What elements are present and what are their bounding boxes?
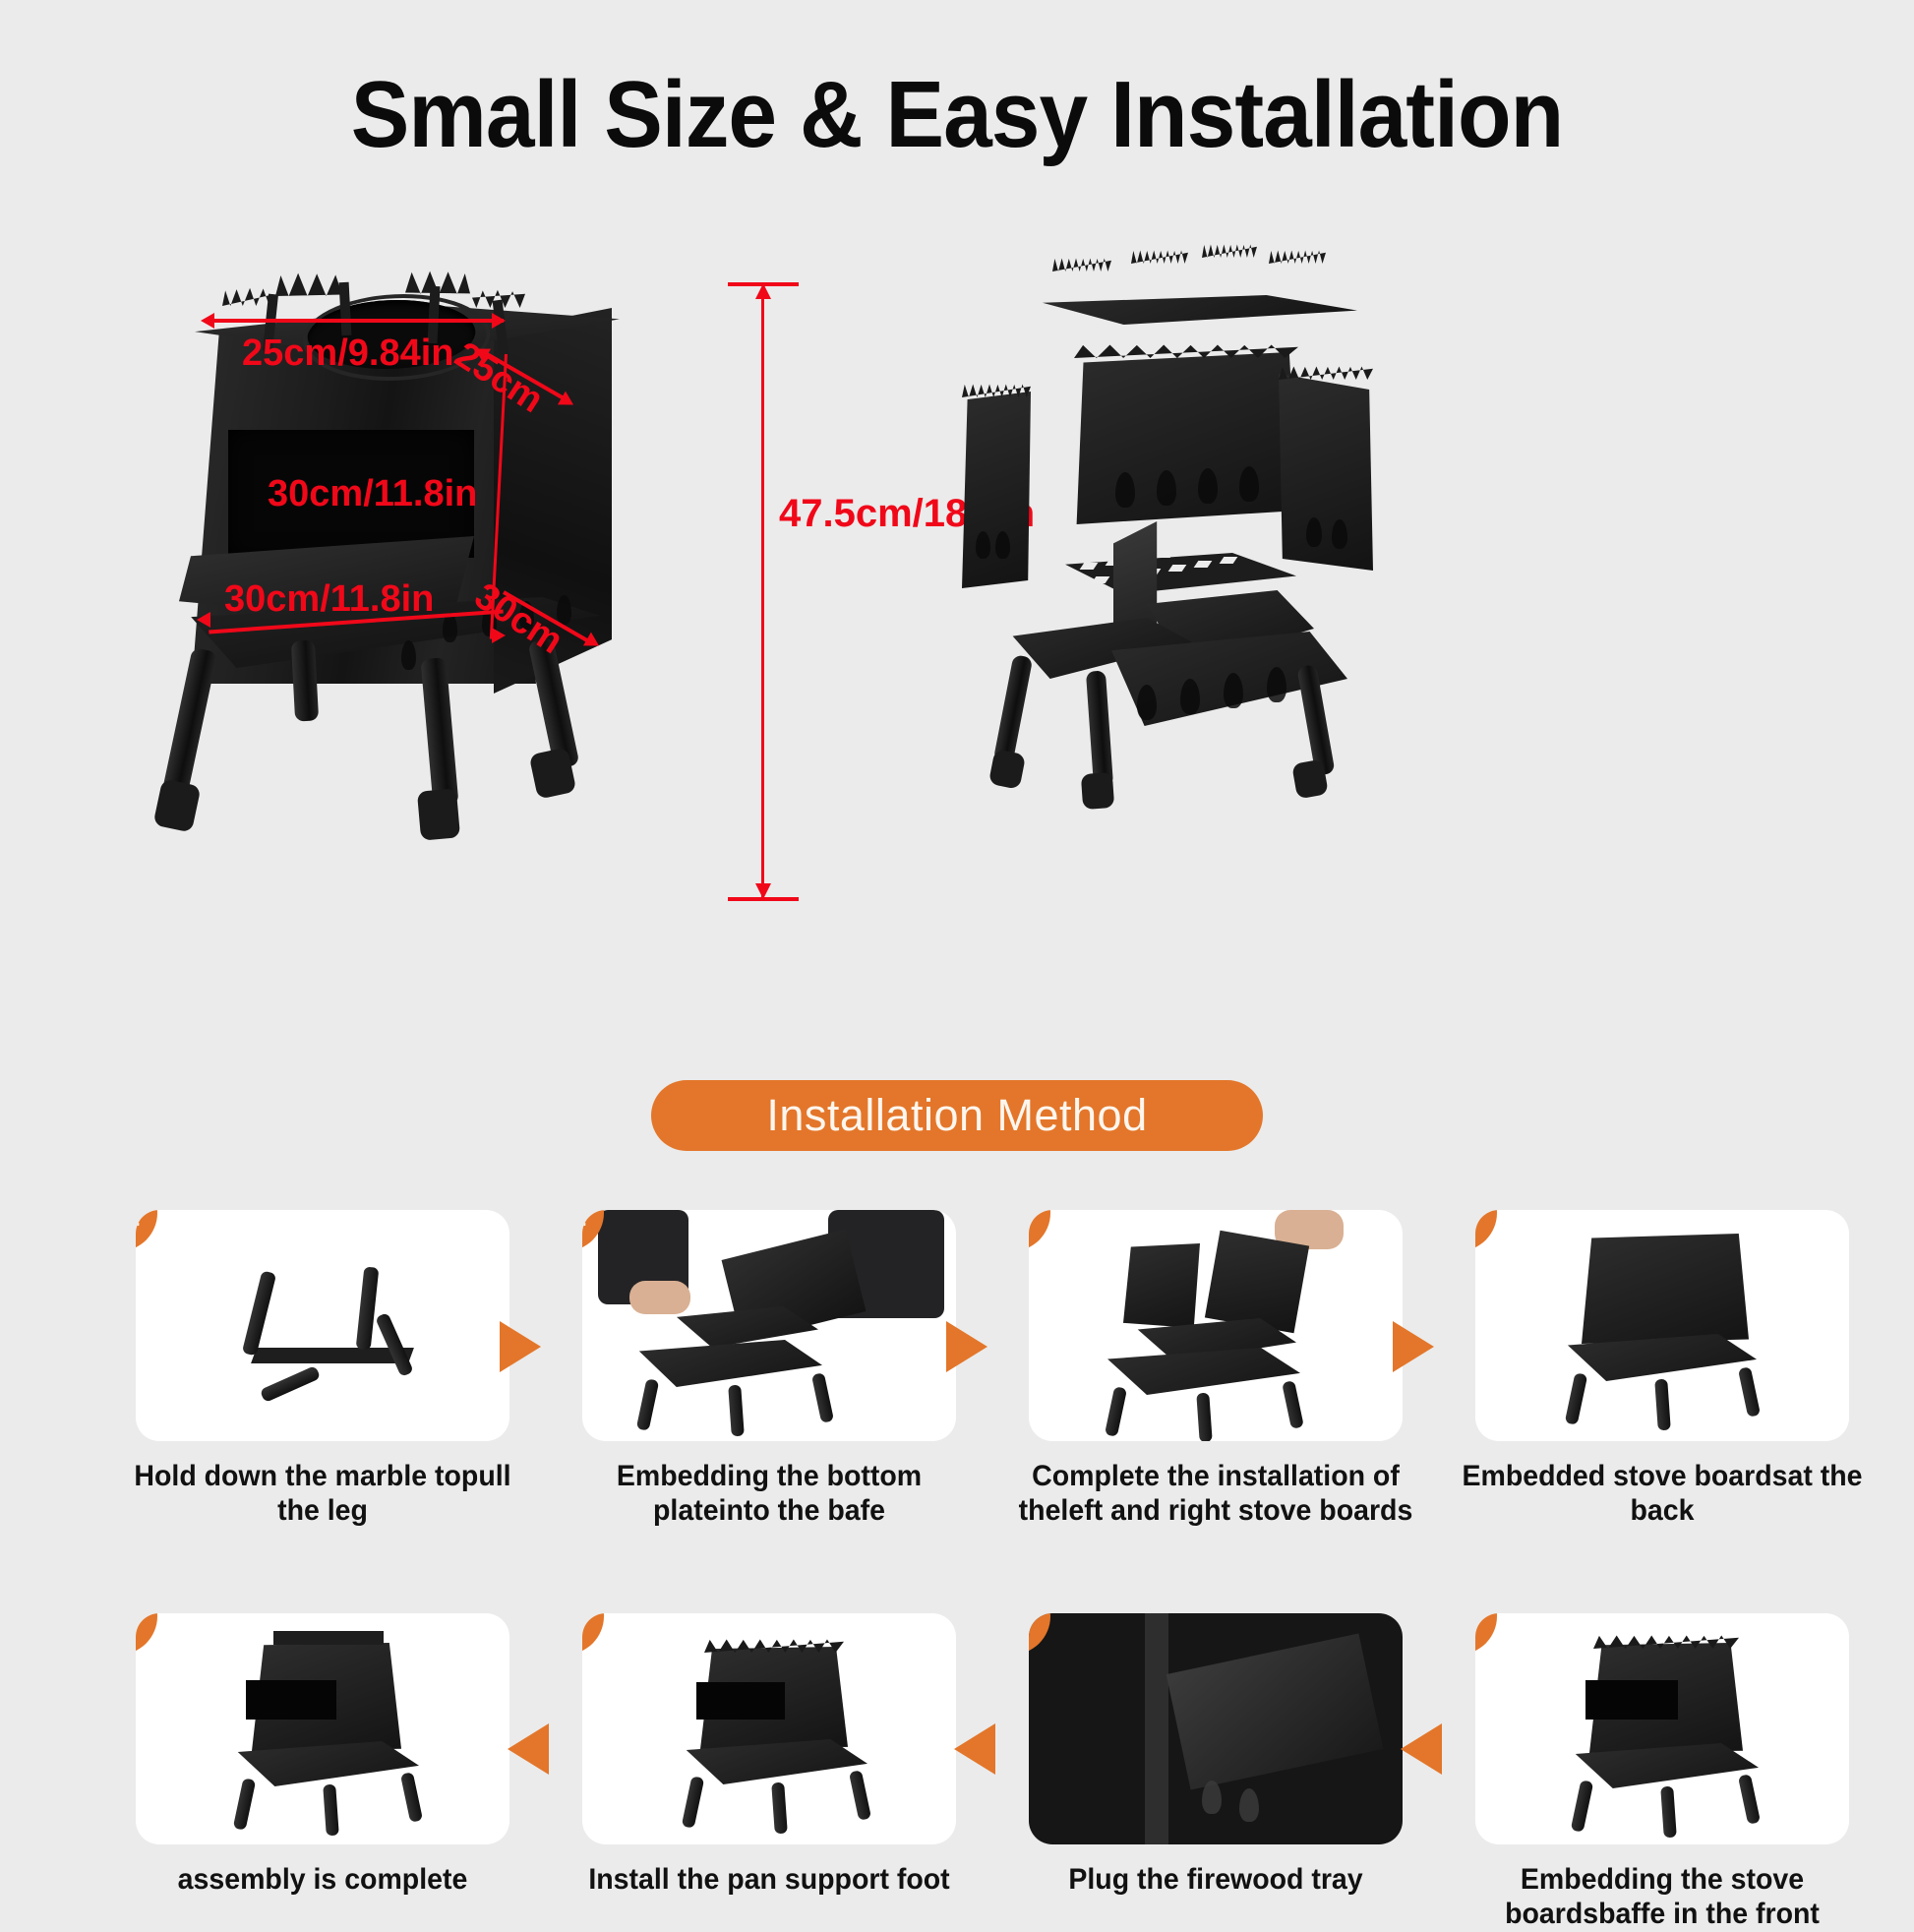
flame-vent-icon bbox=[995, 531, 1010, 559]
board-teeth bbox=[1279, 364, 1373, 380]
base-plate bbox=[635, 1340, 822, 1387]
stove-leg bbox=[636, 1378, 660, 1431]
stove-post bbox=[1145, 1613, 1168, 1844]
stove-leg-foot bbox=[1291, 758, 1329, 799]
infographic-page: Small Size & Easy Installation bbox=[0, 0, 1914, 1914]
step-card-01[interactable]: 01 Hold down the marble topull the leg bbox=[136, 1210, 509, 1529]
exploded-stove-illustration bbox=[944, 226, 1436, 836]
stove-leg bbox=[728, 1385, 745, 1437]
step-image-03: 03 bbox=[1029, 1210, 1403, 1441]
step-illustration bbox=[582, 1613, 956, 1844]
step-caption: Hold down the marble topull the leg bbox=[122, 1459, 524, 1529]
step-image-05: 05 bbox=[1475, 1613, 1849, 1844]
step-caption: Complete the installation of theleft and… bbox=[1015, 1459, 1417, 1529]
step-card-07[interactable]: 07 Install the pan support foot bbox=[582, 1613, 956, 1897]
step-illustration bbox=[582, 1210, 956, 1441]
flame-vent-icon bbox=[1239, 1788, 1259, 1822]
step-card-03[interactable]: 03 Complete the installation of theleft … bbox=[1029, 1210, 1403, 1529]
stove-leg bbox=[162, 647, 218, 797]
flame-vent-icon bbox=[1198, 468, 1218, 504]
folded-leg bbox=[260, 1365, 321, 1403]
stove-leg bbox=[771, 1782, 788, 1835]
pot-support-tab bbox=[222, 280, 273, 306]
dimension-base-width: 30cm/11.8in bbox=[224, 578, 434, 621]
pot-support-tab bbox=[275, 267, 342, 296]
step-image-08: 08 bbox=[136, 1613, 509, 1844]
folded-leg bbox=[242, 1270, 276, 1356]
left-stove-board bbox=[1123, 1243, 1200, 1328]
dim-line-height bbox=[761, 287, 764, 897]
installation-method-label: Installation Method bbox=[766, 1090, 1147, 1141]
step-caption: Install the pan support foot bbox=[568, 1862, 971, 1897]
back-stove-board bbox=[1072, 352, 1298, 524]
stove-leg bbox=[1738, 1774, 1761, 1825]
stove-leg bbox=[1565, 1372, 1588, 1425]
firebox-opening bbox=[246, 1680, 336, 1720]
step-caption: assembly is complete bbox=[122, 1862, 524, 1897]
step-illustration bbox=[1475, 1613, 1849, 1844]
step-image-02: 02 bbox=[582, 1210, 956, 1441]
left-stove-board bbox=[962, 392, 1031, 588]
flame-vent-icon bbox=[1115, 472, 1135, 508]
stove-leg bbox=[849, 1770, 871, 1821]
dim-arrow-left bbox=[197, 612, 210, 628]
stove-leg bbox=[1105, 1386, 1127, 1437]
flame-vent-icon bbox=[1202, 1781, 1222, 1814]
firebox-opening bbox=[696, 1682, 785, 1720]
top-bracket bbox=[339, 282, 352, 335]
flame-vent-icon bbox=[976, 531, 990, 559]
stove-leg-foot bbox=[152, 778, 201, 832]
stove-leg bbox=[1571, 1780, 1594, 1833]
stove-leg bbox=[1660, 1786, 1677, 1839]
step-caption: Embedding the bottom plateinto the bafe bbox=[568, 1459, 971, 1529]
stove-leg bbox=[682, 1776, 705, 1829]
dim-line-top-width bbox=[209, 319, 504, 323]
flame-vent-icon bbox=[401, 640, 416, 670]
stove-leg bbox=[1196, 1393, 1212, 1441]
hero-section: 25cm/9.84in 25cm 30cm/11.8in 30cm/11.8in… bbox=[0, 197, 1914, 1062]
flow-arrow-icon bbox=[508, 1723, 549, 1775]
pot-support-teeth bbox=[1052, 256, 1111, 272]
stove-leg bbox=[233, 1778, 257, 1831]
stove-leg-foot bbox=[417, 788, 460, 840]
person-hand bbox=[629, 1281, 690, 1314]
stove-leg bbox=[323, 1784, 339, 1837]
step-card-05[interactable]: 05 Embedding the stove boardsbaffe in th… bbox=[1475, 1613, 1849, 1932]
pot-support-teeth bbox=[1202, 242, 1257, 258]
stove-leg bbox=[811, 1372, 834, 1423]
flow-arrow-icon bbox=[954, 1723, 995, 1775]
stove-leg bbox=[993, 654, 1034, 764]
stove-leg-foot bbox=[988, 749, 1026, 789]
dimension-top-width: 25cm/9.84in bbox=[242, 332, 453, 375]
step-illustration bbox=[1029, 1613, 1403, 1844]
installation-method-badge: Installation Method bbox=[651, 1080, 1263, 1151]
step-row-1: 01 Hold down the marble topull the leg bbox=[0, 1198, 1914, 1544]
right-stove-board bbox=[1279, 374, 1373, 571]
step-caption: Embedding the stove boardsbaffe in the f… bbox=[1462, 1862, 1864, 1932]
step-card-02[interactable]: 02 Embedding the bottom plateinto the ba… bbox=[582, 1210, 956, 1529]
stove-leg bbox=[400, 1772, 423, 1823]
dimension-body-width: 30cm/11.8in bbox=[268, 473, 477, 515]
step-illustration bbox=[136, 1210, 509, 1441]
flow-arrow-icon bbox=[946, 1321, 987, 1372]
flame-vent-icon bbox=[1137, 685, 1157, 720]
installation-steps: 01 Hold down the marble topull the leg bbox=[0, 1198, 1914, 1891]
pot-support-teeth bbox=[1131, 248, 1188, 264]
step-card-04[interactable]: 04 Embedded stove boardsat the back bbox=[1475, 1210, 1849, 1529]
folded-leg bbox=[356, 1266, 380, 1350]
flame-vent-icon bbox=[1224, 673, 1243, 708]
stove-leg bbox=[1086, 670, 1113, 787]
step-illustration bbox=[136, 1613, 509, 1844]
flow-arrow-icon bbox=[1393, 1321, 1434, 1372]
fire-grate bbox=[1050, 553, 1296, 594]
page-title: Small Size & Easy Installation bbox=[67, 61, 1847, 169]
flame-vent-icon bbox=[1157, 470, 1176, 506]
dim-arrow-right bbox=[492, 313, 506, 329]
pot-support-plate bbox=[273, 1631, 384, 1645]
folded-leg bbox=[375, 1312, 414, 1377]
flame-vent-icon bbox=[1306, 517, 1322, 547]
dim-tick-bottom bbox=[728, 897, 799, 901]
step-caption: Embedded stove boardsat the back bbox=[1462, 1459, 1864, 1529]
flow-arrow-icon bbox=[500, 1321, 541, 1372]
flow-arrow-icon bbox=[1401, 1723, 1442, 1775]
stove-body bbox=[1582, 1234, 1749, 1344]
flame-vent-icon bbox=[1332, 519, 1347, 549]
base-plate bbox=[1104, 1348, 1300, 1395]
right-stove-board bbox=[1205, 1231, 1309, 1334]
dim-arrow-up bbox=[755, 283, 771, 299]
stove-leg bbox=[1654, 1379, 1671, 1431]
step-card-08[interactable]: 08 assembly is complete bbox=[136, 1613, 509, 1897]
firebox-opening bbox=[1585, 1680, 1678, 1720]
flame-vent-icon bbox=[1239, 466, 1259, 502]
stove-leg bbox=[1282, 1380, 1304, 1429]
step-image-06: 06 bbox=[1029, 1613, 1403, 1844]
stove-leg bbox=[1738, 1366, 1761, 1418]
flame-vent-icon bbox=[1180, 679, 1200, 714]
stove-leg-foot bbox=[1081, 772, 1114, 810]
step-image-07: 07 bbox=[582, 1613, 956, 1844]
grate-hole bbox=[1157, 551, 1175, 558]
dim-arrow-left bbox=[201, 313, 214, 329]
pot-support-teeth bbox=[1269, 248, 1326, 264]
step-illustration bbox=[1475, 1210, 1849, 1441]
flame-vent-icon bbox=[1267, 667, 1286, 702]
step-illustration bbox=[1029, 1210, 1403, 1441]
step-card-06[interactable]: 06 Plug the firewood tray bbox=[1029, 1613, 1403, 1897]
pot-support-plate bbox=[1033, 295, 1357, 325]
step-image-04: 04 bbox=[1475, 1210, 1849, 1441]
stove-leg bbox=[291, 639, 319, 721]
step-row-2: 08 assembly is complete 07 bbox=[0, 1544, 1914, 1891]
step-image-01: 01 bbox=[136, 1210, 509, 1441]
step-caption: Plug the firewood tray bbox=[1015, 1862, 1417, 1897]
